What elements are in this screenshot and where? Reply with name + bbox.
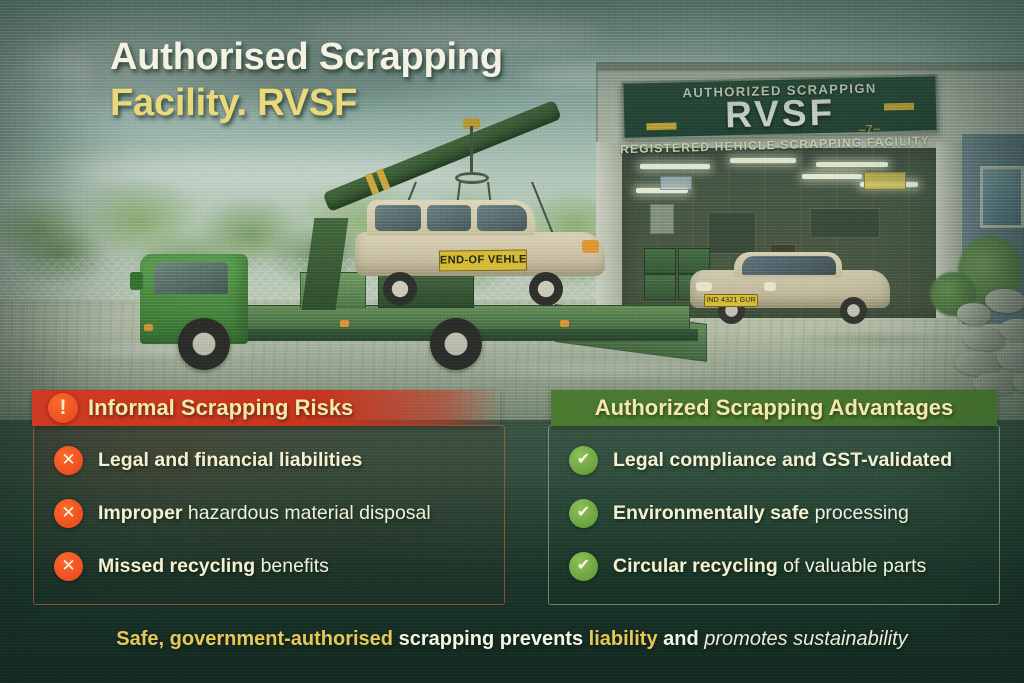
risk-item-bold: Missed recycling xyxy=(98,555,255,577)
caption-italic: promotes sustainability xyxy=(704,628,907,650)
rock xyxy=(997,347,1024,371)
sedan-glass xyxy=(742,256,836,275)
list-item: ✔ Circular recycling of valuable parts xyxy=(569,540,1019,593)
sedan-headlight xyxy=(764,282,776,291)
advantage-item-bold: Legal compliance and GST-validated xyxy=(613,449,952,471)
list-item: ✕ Improper hazardous material disposal xyxy=(54,487,524,540)
check-icon: ✔ xyxy=(569,499,598,528)
truck-marker-light xyxy=(560,320,569,327)
list-item: ✔ Environmentally safe processing xyxy=(569,487,1019,540)
sign-dash-left xyxy=(646,123,676,131)
wagon-rear-glass xyxy=(375,205,421,231)
advantage-item-bold: Environmentally safe xyxy=(613,502,809,524)
crane-band xyxy=(365,173,379,195)
list-item: ✕ Legal and financial liabilities xyxy=(54,434,524,487)
truck-wheel xyxy=(178,318,230,370)
caption-gold-2: liability xyxy=(589,628,658,650)
wagon-side-glass xyxy=(427,205,471,231)
sign-squiggle: ~7~ xyxy=(858,121,881,138)
end-of-life-plate: END-OF VEHLE xyxy=(439,250,527,272)
cross-icon: ✕ xyxy=(54,499,83,528)
risk-item-rest: hazardous material disposal xyxy=(183,502,431,524)
list-item: ✕ Missed recycling benefits xyxy=(54,540,524,593)
advantage-item-rest: of valuable parts xyxy=(778,555,927,577)
wagon-wheel xyxy=(529,272,563,306)
wagon-wheel xyxy=(383,272,417,306)
building-side-window xyxy=(980,166,1024,228)
risk-item-text: Legal and financial liabilities xyxy=(98,449,362,472)
caption-white-1: scrapping prevents xyxy=(399,628,584,650)
wall-poster xyxy=(660,176,692,190)
workshop-counter xyxy=(810,208,880,238)
truck-marker-light xyxy=(144,324,153,331)
workshop-shelf xyxy=(708,212,756,254)
cross-icon: ✕ xyxy=(54,446,83,475)
advantage-item-text: Legal compliance and GST-validated xyxy=(613,449,952,472)
sedan-wheel xyxy=(840,297,867,324)
rock xyxy=(985,289,1024,313)
footer-caption: Safe, government-authorised scrapping pr… xyxy=(0,628,1024,651)
title-line-2: Facility. RVSF xyxy=(110,80,503,126)
infographic-poster: AUTHORIZED SCRAPPIGN RVSF REGISTERED HEH… xyxy=(0,0,1024,683)
check-icon: ✔ xyxy=(569,446,598,475)
crane-band xyxy=(376,168,390,190)
truck-windshield xyxy=(154,262,228,294)
informal-scrapping-risks-panel: ! Informal Scrapping Risks ✕ Legal and f… xyxy=(33,425,505,605)
wagon-front-glass xyxy=(477,205,527,231)
risk-item-text: Improper hazardous material disposal xyxy=(98,502,431,525)
warning-icon: ! xyxy=(48,393,78,423)
ceiling-light xyxy=(730,158,796,163)
ceiling-light xyxy=(816,162,888,167)
check-icon: ✔ xyxy=(569,552,598,581)
wall-notice xyxy=(864,172,906,190)
title-line-1: Authorised Scrapping xyxy=(110,34,503,80)
crane-cable xyxy=(470,126,473,174)
caption-white-2: and xyxy=(663,628,699,650)
advantage-panel-header-label: Authorized Scrapping Advantages xyxy=(595,395,954,421)
sign-main-text: RVSF xyxy=(624,91,937,137)
caption-gold-1: Safe, government-authorised xyxy=(116,628,393,650)
advantage-panel-header: Authorized Scrapping Advantages xyxy=(551,390,997,426)
advantage-item-bold: Circular recycling xyxy=(613,555,778,577)
risk-item-bold: Legal and financial liabilities xyxy=(98,449,362,471)
risk-item-rest: benefits xyxy=(255,555,329,577)
advantage-item-list: ✔ Legal compliance and GST-validated ✔ E… xyxy=(569,434,1019,593)
yard-sedan: IND 4321 GUR xyxy=(690,250,890,322)
list-item: ✔ Legal compliance and GST-validated xyxy=(569,434,1019,487)
advantage-item-text: Environmentally safe processing xyxy=(613,502,909,525)
advantage-item-text: Circular recycling of valuable parts xyxy=(613,555,926,578)
truck-wheel xyxy=(430,318,482,370)
risk-item-bold: Improper xyxy=(98,502,183,524)
rvsf-signboard: AUTHORIZED SCRAPPIGN RVSF xyxy=(621,74,938,140)
risk-panel-header-label: Informal Scrapping Risks xyxy=(88,395,353,421)
truck-mirror xyxy=(130,272,143,290)
wagon-headlight xyxy=(582,240,599,253)
truck-marker-light xyxy=(340,320,349,327)
authorized-scrapping-advantages-panel: Authorized Scrapping Advantages ✔ Legal … xyxy=(548,425,1000,605)
risk-panel-header: ! Informal Scrapping Risks xyxy=(32,390,500,426)
ceiling-light xyxy=(640,164,710,169)
ceiling-light xyxy=(802,174,862,179)
sign-dash-right xyxy=(884,103,914,111)
risk-item-text: Missed recycling benefits xyxy=(98,555,329,578)
cross-icon: ✕ xyxy=(54,552,83,581)
rock-pile xyxy=(955,285,1024,395)
advantage-item-rest: processing xyxy=(809,502,909,524)
page-title: Authorised Scrapping Facility. RVSF xyxy=(110,34,503,126)
risk-item-list: ✕ Legal and financial liabilities ✕ Impr… xyxy=(54,434,524,593)
building-roofline xyxy=(596,62,1024,71)
end-of-life-vehicle: END-OF VEHLE xyxy=(355,196,605,302)
rock xyxy=(957,303,991,325)
sedan-licence-plate: IND 4321 GUR xyxy=(704,294,758,307)
